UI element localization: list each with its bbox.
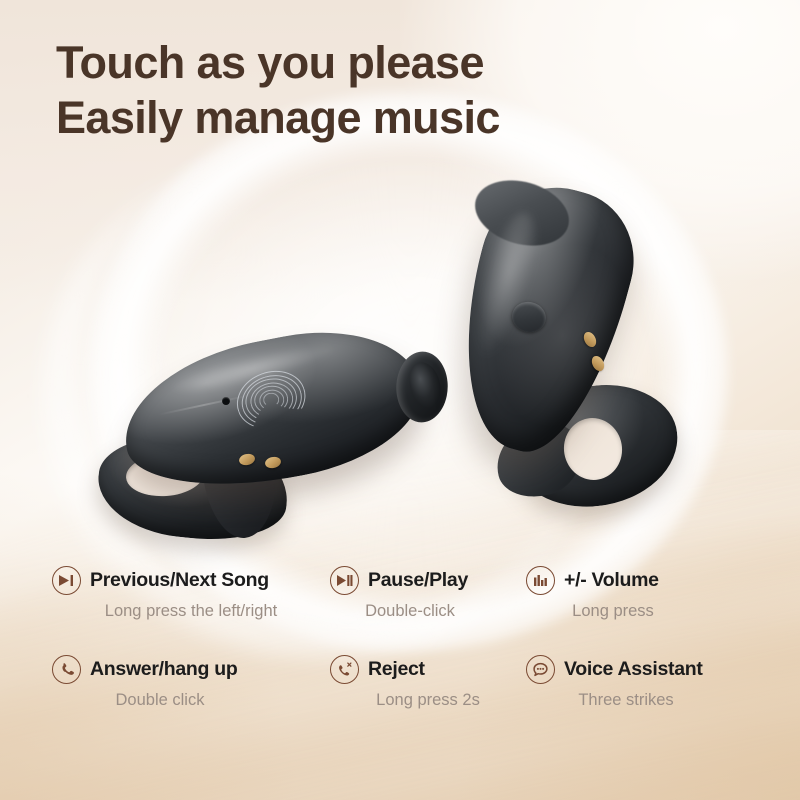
feature-subtitle: Three strikes (526, 691, 746, 710)
feature-title: Previous/Next Song (90, 569, 269, 592)
right-earbud-image (452, 186, 702, 516)
feature-subtitle: Double-click (330, 602, 526, 621)
headline: Touch as you please Easily manage music (56, 36, 736, 146)
headline-line-1: Touch as you please (56, 37, 484, 88)
feature-row-1: Previous/Next Song Long press the left/r… (52, 566, 752, 621)
feature-header: Voice Assistant (526, 655, 746, 684)
feature-reject: Reject Long press 2s (330, 655, 526, 710)
feature-pause-play: Pause/Play Double-click (330, 566, 526, 621)
feature-title: Answer/hang up (90, 658, 237, 681)
feature-row-2: Answer/hang up Double click (52, 655, 752, 710)
feature-header: +/- Volume (526, 566, 746, 595)
feature-subtitle: Double click (52, 691, 330, 710)
feature-title: Pause/Play (368, 569, 468, 592)
feature-header: Pause/Play (330, 566, 526, 595)
volume-bars-icon (526, 566, 555, 595)
headline-line-2: Easily manage music (56, 91, 736, 146)
feature-subtitle: Long press the left/right (52, 602, 330, 621)
speech-bubble-icon (526, 655, 555, 684)
feature-answer-hang-up: Answer/hang up Double click (52, 655, 330, 710)
phone-icon (52, 655, 81, 684)
feature-header: Reject (330, 655, 526, 684)
feature-header: Previous/Next Song (52, 566, 330, 595)
feature-subtitle: Long press (526, 602, 746, 621)
feature-header: Answer/hang up (52, 655, 330, 684)
gesture-feature-list: Previous/Next Song Long press the left/r… (52, 566, 752, 744)
phone-reject-icon (330, 655, 359, 684)
left-earbud-image (96, 322, 446, 562)
left-earbud-mic-hole (222, 397, 230, 405)
feature-title: Voice Assistant (564, 658, 703, 681)
feature-title: +/- Volume (564, 569, 659, 592)
next-track-icon (52, 566, 81, 595)
feature-previous-next-song: Previous/Next Song Long press the left/r… (52, 566, 330, 621)
feature-volume: +/- Volume Long press (526, 566, 746, 621)
feature-subtitle: Long press 2s (330, 691, 526, 710)
feature-title: Reject (368, 658, 425, 681)
play-pause-icon (330, 566, 359, 595)
feature-voice-assistant: Voice Assistant Three strikes (526, 655, 746, 710)
product-feature-poster: Touch as you please Easily manage music (0, 0, 800, 800)
